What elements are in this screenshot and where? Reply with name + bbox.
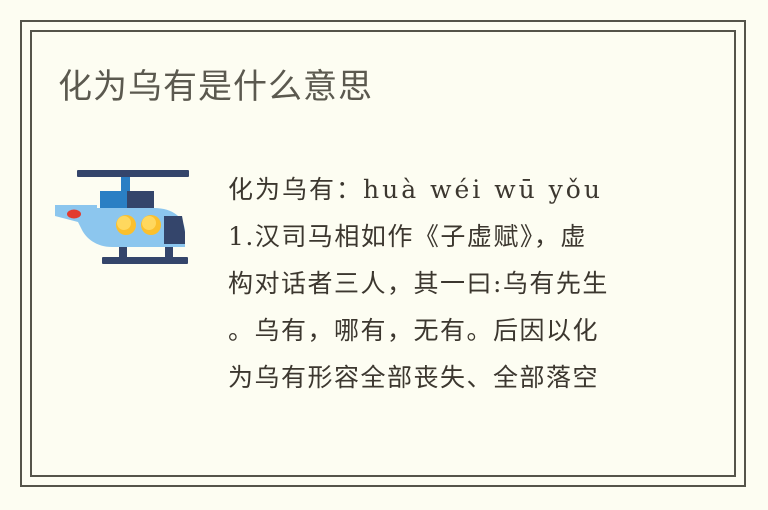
passenger-window-1-highlight-icon: [117, 216, 131, 230]
skid-strut-left-icon: [119, 247, 127, 258]
definition-headword: 化为乌有：: [228, 175, 363, 204]
tail-light-icon: [67, 210, 81, 219]
rotor-mast-icon: [121, 177, 130, 193]
definition-line: 1.汉司马相如作《子虚赋》，虚: [228, 213, 668, 260]
landing-skid-icon: [102, 257, 188, 264]
engine-housing-right-icon: [127, 191, 154, 208]
definition-line: 为乌有形容全部丧失、全部落空: [228, 354, 668, 401]
passenger-window-2-highlight-icon: [142, 216, 156, 230]
page-title: 化为乌有是什么意思: [58, 64, 373, 110]
cockpit-window-icon: [164, 216, 185, 244]
skid-strut-right-icon: [165, 247, 173, 258]
engine-housing-left-icon: [100, 191, 127, 208]
definition-pinyin: huà wéi wū yǒu: [363, 175, 603, 204]
definition-block: 化为乌有：huà wéi wū yǒu 1.汉司马相如作《子虚赋》，虚 构对话者…: [228, 166, 668, 401]
helicopter-illustration: [52, 160, 212, 270]
rotor-blade-icon: [77, 170, 189, 177]
definition-headword-line: 化为乌有：huà wéi wū yǒu: [228, 166, 668, 213]
definition-line: 。乌有，哪有，无有。后因以化: [228, 307, 668, 354]
definition-line: 构对话者三人，其一曰:乌有先生: [228, 260, 668, 307]
page-root: 化为乌有是什么意思: [0, 0, 768, 510]
